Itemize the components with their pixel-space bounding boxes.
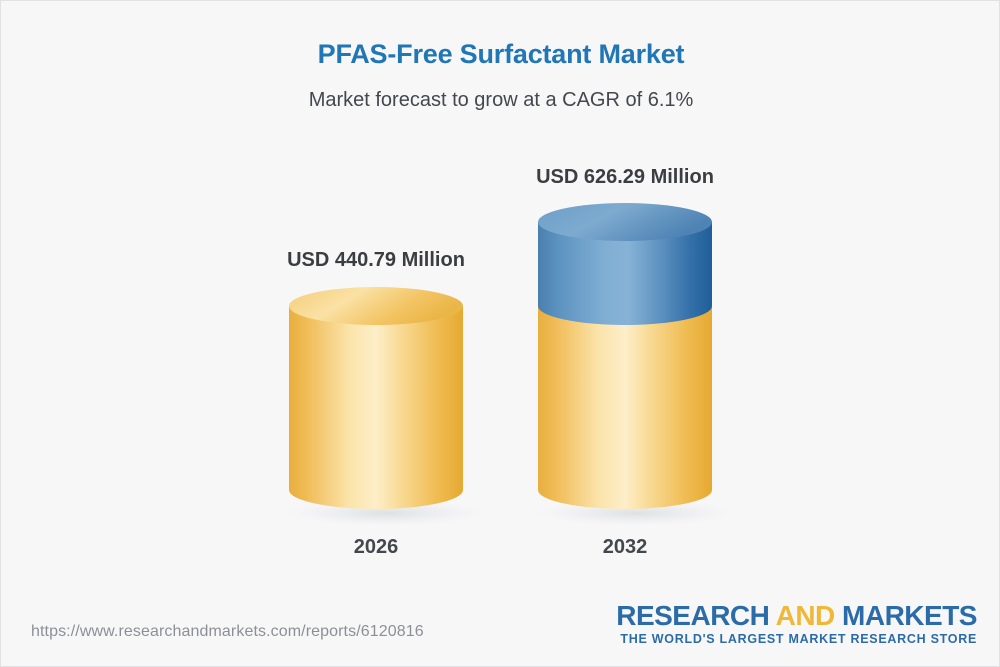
logo-word-research: RESEARCH [616,600,775,631]
chart-canvas: PFAS-Free Surfactant Market Market forec… [0,0,1000,667]
category-label-2026: 2026 [286,536,466,559]
research-and-markets-logo[interactable]: RESEARCH AND MARKETS THE WORLD'S LARGEST… [616,601,977,646]
report-url[interactable]: https://www.researchandmarkets.com/repor… [31,623,424,641]
value-label-2032: USD 626.29 Million [440,166,810,189]
logo-word-markets: MARKETS [835,600,977,631]
logo-word-and: AND [776,600,835,631]
logo-wordmark: RESEARCH AND MARKETS [616,601,977,630]
logo-tagline: THE WORLD'S LARGEST MARKET RESEARCH STOR… [616,632,977,646]
category-label-2032: 2032 [535,536,715,559]
bar-cylinder-2026 [1,1,1000,601]
plot-area: USD 440.79 Million [1,1,1000,601]
